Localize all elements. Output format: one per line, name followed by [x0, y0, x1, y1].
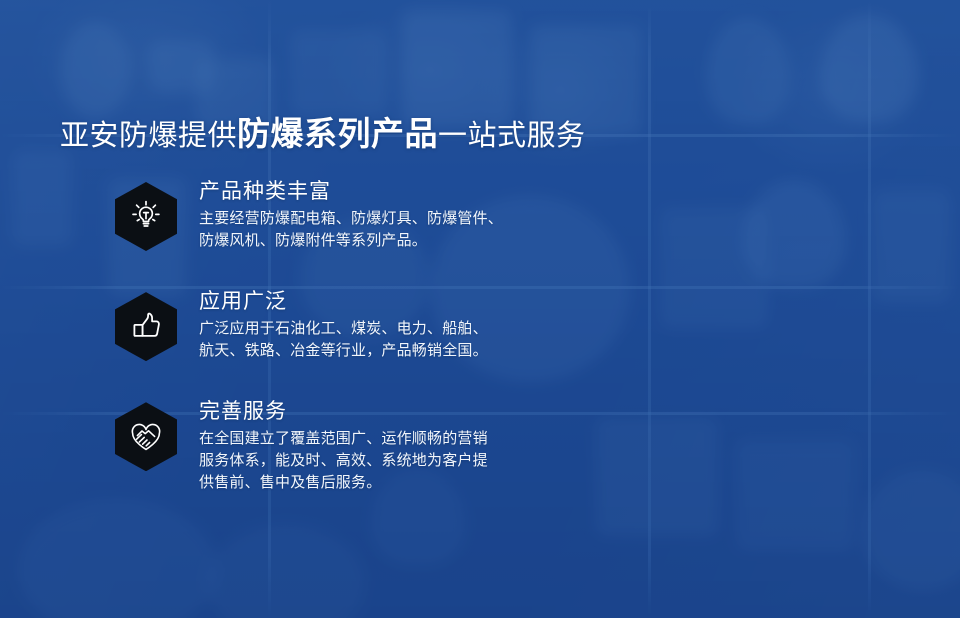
feature-title: 应用广泛 — [199, 290, 488, 314]
feature-text: 应用广泛 广泛应用于石油化工、煤炭、电力、船舶、 航天、铁路、冶金等行业，产品畅… — [199, 288, 488, 362]
feature-desc-line: 主要经营防爆配电箱、防爆灯具、防爆管件、 — [199, 208, 503, 230]
page-title: 亚安防爆提供防爆系列产品一站式服务 — [60, 117, 586, 151]
feature-description: 在全国建立了覆盖范围广、运作顺畅的营销 服务体系，能及时、高效、系统地为客户提 … — [199, 428, 488, 494]
handshake-heart-icon — [115, 402, 177, 471]
feature-desc-line: 服务体系，能及时、高效、系统地为客户提 — [199, 450, 488, 472]
thumbs-up-icon — [115, 292, 177, 361]
feature-title: 产品种类丰富 — [199, 180, 503, 204]
feature-description: 主要经营防爆配电箱、防爆灯具、防爆管件、 防爆风机、防爆附件等系列产品。 — [199, 208, 503, 252]
feature-title: 完善服务 — [199, 400, 488, 424]
feature-list: 产品种类丰富 主要经营防爆配电箱、防爆灯具、防爆管件、 防爆风机、防爆附件等系列… — [115, 178, 635, 494]
feature-desc-line: 航天、铁路、冶金等行业，产品畅销全国。 — [199, 340, 488, 362]
feature-text: 产品种类丰富 主要经营防爆配电箱、防爆灯具、防爆管件、 防爆风机、防爆附件等系列… — [199, 178, 503, 252]
feature-desc-line: 供售前、售中及售后服务。 — [199, 472, 488, 494]
feature-description: 广泛应用于石油化工、煤炭、电力、船舶、 航天、铁路、冶金等行业，产品畅销全国。 — [199, 318, 488, 362]
feature-desc-line: 在全国建立了覆盖范围广、运作顺畅的营销 — [199, 428, 488, 450]
feature-text: 完善服务 在全国建立了覆盖范围广、运作顺畅的营销 服务体系，能及时、高效、系统地… — [199, 398, 488, 494]
feature-item-product-variety: 产品种类丰富 主要经营防爆配电箱、防爆灯具、防爆管件、 防爆风机、防爆附件等系列… — [115, 178, 635, 252]
feature-desc-line: 防爆风机、防爆附件等系列产品。 — [199, 230, 503, 252]
banner-content: 亚安防爆提供防爆系列产品一站式服务 — [0, 0, 960, 618]
promo-banner: 亚安防爆提供防爆系列产品一站式服务 — [0, 0, 960, 618]
headline-lead: 亚安防爆提供 — [60, 120, 237, 152]
feature-item-complete-service: 完善服务 在全国建立了覆盖范围广、运作顺畅的营销 服务体系，能及时、高效、系统地… — [115, 398, 635, 494]
feature-desc-line: 广泛应用于石油化工、煤炭、电力、船舶、 — [199, 318, 488, 340]
headline-emphasis: 防爆系列产品 — [237, 115, 438, 152]
feature-item-wide-application: 应用广泛 广泛应用于石油化工、煤炭、电力、船舶、 航天、铁路、冶金等行业，产品畅… — [115, 288, 635, 362]
lightbulb-icon — [115, 182, 177, 251]
headline-tail: 一站式服务 — [438, 120, 586, 152]
